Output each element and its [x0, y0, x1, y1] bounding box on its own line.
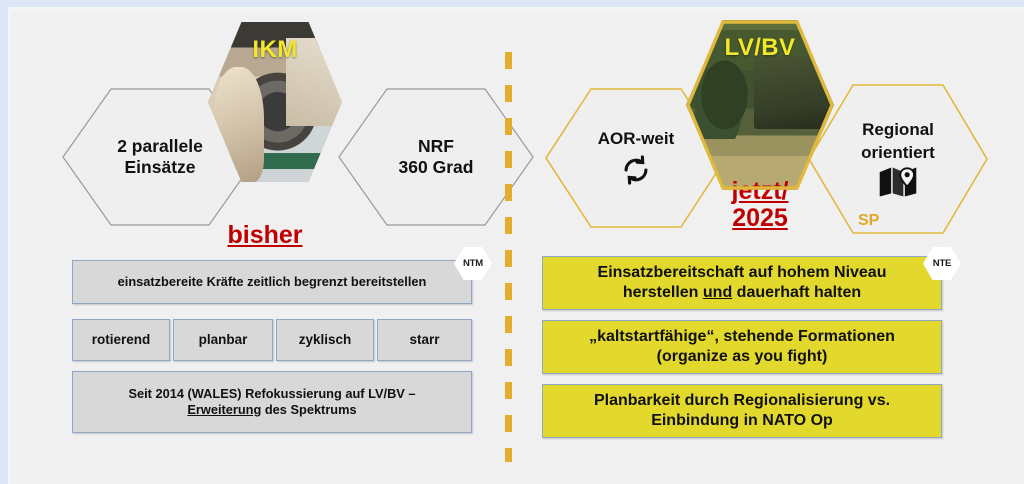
era-label-bisher: bisher	[190, 222, 340, 249]
bar-einsatzbereite-kraefte[interactable]: einsatzbereite Kräfte zeitlich begrenzt …	[72, 260, 472, 304]
bar-text-line1: „kaltstartfähige“, stehende Formationen	[589, 327, 895, 347]
window-edge-left-inner	[8, 7, 11, 484]
hexagon-label-line1: NRF	[418, 136, 454, 157]
chip-text: planbar	[199, 332, 248, 348]
map-pin-icon-svg	[878, 166, 918, 198]
chip-rotierend[interactable]: rotierend	[72, 319, 170, 361]
bar-text-a: herstellen	[623, 284, 703, 301]
lvbv-caption: LV/BV	[686, 34, 834, 62]
ntm-badge-text: NTM	[463, 258, 483, 269]
chip-text: rotierend	[92, 332, 151, 348]
sp-tag: SP	[858, 212, 879, 230]
bar-text-b: dauerhaft halten	[732, 284, 861, 301]
bar-text-underlined: Erweiterung	[187, 402, 261, 417]
bar-text-line1: Einsatzbereitschaft auf hohem Niveau	[598, 263, 887, 283]
hexagon-label-line1: Regional	[862, 120, 934, 140]
chip-zyklisch[interactable]: zyklisch	[276, 319, 374, 361]
bar-text-line2: (organize as you fight)	[589, 347, 895, 367]
hexagon-label-line2: Einsätze	[125, 157, 196, 178]
chip-text: starr	[409, 332, 439, 348]
bar-text-rest: des Spektrums	[261, 402, 356, 417]
chip-planbar[interactable]: planbar	[173, 319, 273, 361]
era-label-line1: jetzt/	[700, 178, 820, 205]
window-edge-top-inner	[8, 7, 1024, 11]
map-pin-icon	[878, 166, 918, 198]
window-edge-left	[0, 0, 8, 484]
window-edge-top	[0, 0, 1024, 7]
hexagon-label-line2: orientiert	[861, 143, 935, 163]
sync-icon	[619, 153, 653, 187]
hexagon-regional-orientiert[interactable]: Regional orientiert	[808, 84, 988, 234]
hexagon-label-line1: AOR-weit	[598, 129, 675, 149]
bar-text-line2: Erweiterung des Spektrums	[128, 402, 415, 418]
hexagon-label-line2: 360 Grad	[399, 157, 474, 178]
chip-starr[interactable]: starr	[377, 319, 472, 361]
ikm-caption: IKM	[208, 36, 342, 64]
bar-text: einsatzbereite Kräfte zeitlich begrenzt …	[118, 274, 427, 290]
era-label-jetzt-2025: jetzt/ 2025	[700, 178, 820, 231]
bar-text-line2: herstellen und dauerhaft halten	[598, 283, 887, 303]
slide-canvas: 2 parallele Einsätze IKM NRF 360 Grad bi…	[0, 0, 1024, 484]
bar-text-line2: Einbindung in NATO Op	[594, 411, 890, 431]
nte-badge-text: NTE	[933, 258, 951, 269]
bar-text-line1: Planbarkeit durch Regionalisierung vs.	[594, 391, 890, 411]
bar-einsatzbereitschaft-hohes-niveau[interactable]: Einsatzbereitschaft auf hohem Niveau her…	[542, 256, 942, 310]
bar-planbarkeit-regionalisierung[interactable]: Planbarkeit durch Regionalisierung vs. E…	[542, 384, 942, 438]
dashed-vertical-divider	[505, 52, 512, 462]
bar-wales-refokussierung[interactable]: Seit 2014 (WALES) Refokussierung auf LV/…	[72, 371, 472, 433]
era-label-line2: 2025	[700, 205, 820, 232]
bar-text-line1: Seit 2014 (WALES) Refokussierung auf LV/…	[128, 386, 415, 402]
hexagon-label-line1: 2 parallele	[117, 136, 203, 157]
bar-kaltstartfaehige-formationen[interactable]: „kaltstartfähige“, stehende Formationen …	[542, 320, 942, 374]
bar-text-underlined: und	[703, 284, 732, 301]
chip-text: zyklisch	[299, 332, 352, 348]
